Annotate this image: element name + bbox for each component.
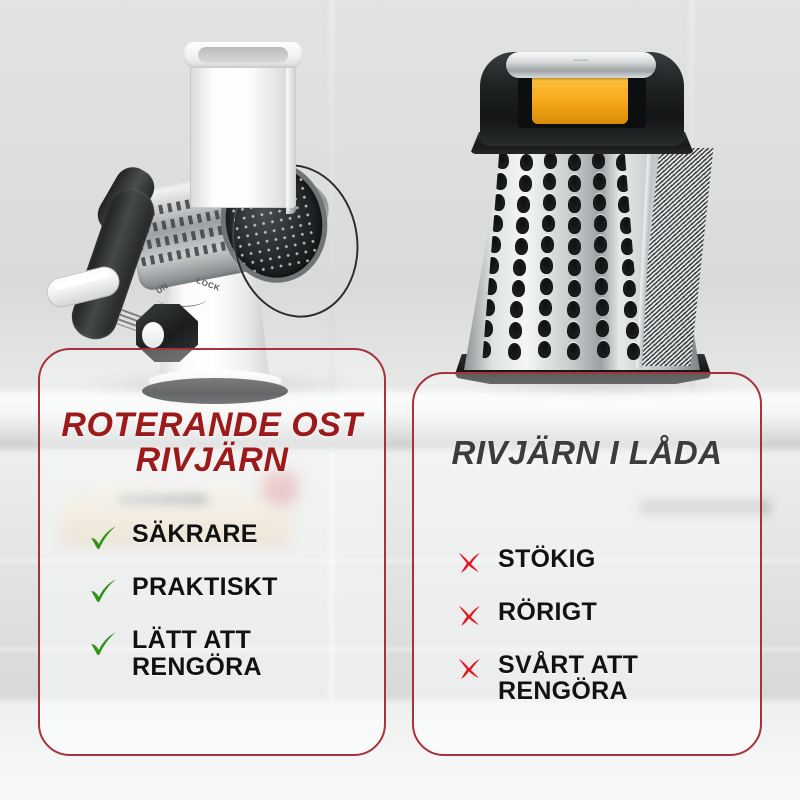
list-item: SVÅRT ATT RENGÖRA	[454, 652, 760, 705]
grater-hole	[594, 236, 607, 253]
box-grater-brand-text: ••••••	[538, 58, 624, 64]
grater-hole	[567, 343, 580, 360]
list-item-label: LÄTT ATT RENGÖRA	[132, 627, 262, 680]
cross-icon	[454, 653, 484, 683]
grater-hole	[519, 175, 532, 192]
grater-hole	[517, 196, 530, 213]
grater-hole	[543, 173, 556, 190]
grater-hole	[510, 301, 523, 318]
product-image-box-grater: ••••••	[452, 36, 752, 384]
box-grater-holes	[482, 148, 642, 364]
check-icon	[88, 628, 118, 658]
list-item-label: SÄKRARE	[132, 521, 258, 548]
grater-hole	[568, 280, 581, 297]
cross-icon	[454, 547, 484, 577]
grater-hole	[568, 175, 581, 192]
grater-hole	[568, 259, 581, 276]
grater-hole	[538, 320, 551, 337]
grater-hole	[595, 257, 608, 274]
cons-feature-list: STÖKIG RÖRIGT SVÅRT ATT RENGÖRA	[454, 546, 760, 705]
grater-hole	[541, 236, 554, 253]
list-item-label: RÖRIGT	[498, 599, 597, 626]
cons-card-title: RIVJÄRN I LÅDA	[424, 436, 750, 470]
grater-hole	[568, 196, 581, 213]
list-item-label: PRAKTISKT	[132, 574, 278, 601]
check-icon	[88, 575, 118, 605]
grater-hole	[592, 152, 605, 169]
comparison-graphic: UNLOCK •••••• ROTERANDE OST RIVJÄRN SÄKR…	[0, 0, 800, 800]
grater-hole	[595, 278, 608, 295]
grater-hole	[622, 259, 635, 276]
grater-hole	[567, 322, 580, 339]
grater-hole	[542, 215, 555, 232]
grater-hole	[596, 320, 609, 337]
list-item: STÖKIG	[454, 546, 760, 577]
pros-card-title: ROTERANDE OST RIVJÄRN	[58, 408, 366, 477]
grater-hole	[627, 343, 640, 360]
grater-chute-edge	[286, 64, 296, 214]
check-icon	[88, 522, 118, 552]
grater-hole	[508, 343, 521, 360]
product-image-rotary-grater: UNLOCK	[38, 34, 358, 384]
grater-hole	[520, 154, 533, 171]
grater-hole	[512, 280, 525, 297]
grater-feed-chute	[190, 48, 296, 208]
grater-hole	[496, 152, 509, 169]
grater-hole	[594, 215, 607, 232]
grater-hole	[596, 299, 609, 316]
list-item-label: STÖKIG	[498, 546, 596, 573]
grater-hole	[624, 301, 637, 318]
grater-hole	[568, 217, 581, 234]
grater-knob-indicator	[142, 322, 164, 348]
list-item: LÄTT ATT RENGÖRA	[88, 627, 384, 680]
grater-chute-opening	[198, 47, 288, 63]
grater-hole	[540, 278, 553, 295]
grater-hole	[515, 238, 528, 255]
grater-hole	[626, 322, 639, 339]
box-grater-handle-bar	[506, 52, 656, 78]
grater-hole	[543, 194, 556, 211]
comparison-card-pros: ROTERANDE OST RIVJÄRN SÄKRARE PRAKTISKT …	[38, 348, 386, 756]
grater-hole	[568, 154, 581, 171]
list-item: PRAKTISKT	[88, 574, 384, 605]
grater-hole	[597, 341, 610, 358]
grater-hole	[538, 341, 551, 358]
cross-icon	[454, 600, 484, 630]
grater-hole	[593, 173, 606, 190]
grater-hole	[516, 217, 529, 234]
grater-hole	[544, 152, 557, 169]
grater-hole	[539, 299, 552, 316]
grater-hole	[513, 259, 526, 276]
grater-hole	[567, 301, 580, 318]
pros-feature-list: SÄKRARE PRAKTISKT LÄTT ATT RENGÖRA	[88, 521, 384, 680]
grater-hole	[540, 257, 553, 274]
box-grater-accent-panel	[532, 72, 628, 124]
grater-hole	[593, 194, 606, 211]
list-item-label: SVÅRT ATT RENGÖRA	[498, 652, 638, 705]
grater-hole	[623, 280, 636, 297]
list-item: SÄKRARE	[88, 521, 384, 552]
grater-hole	[568, 238, 581, 255]
grater-hole	[509, 322, 522, 339]
grater-hole	[621, 238, 634, 255]
comparison-card-cons: RIVJÄRN I LÅDA STÖKIG RÖRIGT SVÅRT ATT R…	[412, 372, 762, 756]
list-item: RÖRIGT	[454, 599, 760, 630]
